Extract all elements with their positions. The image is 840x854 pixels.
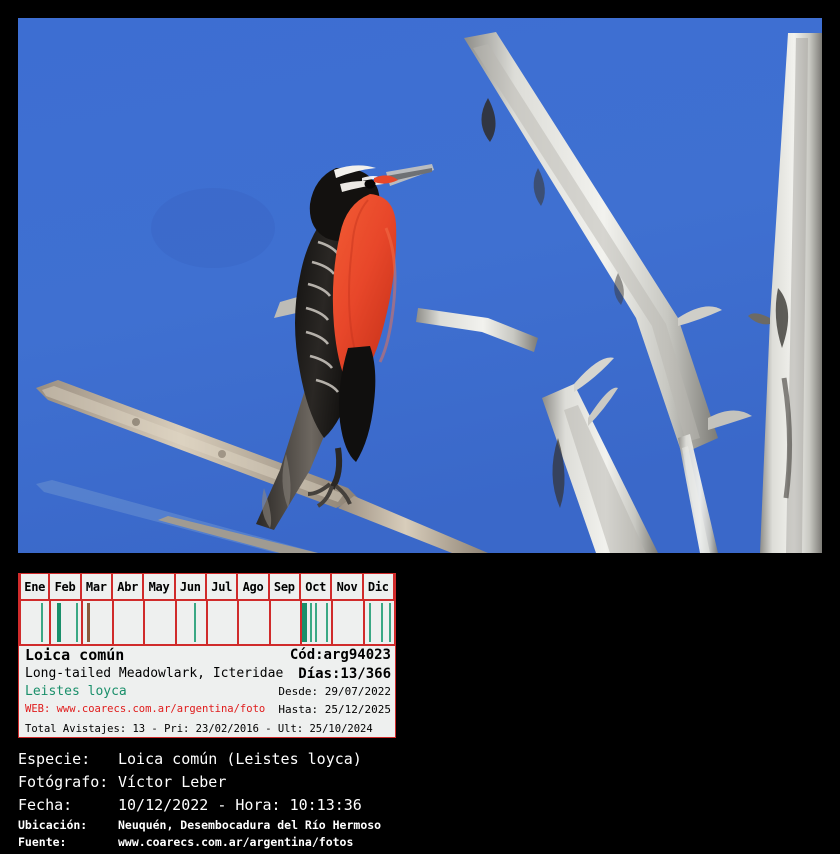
calendar-separator [363,601,365,644]
calendar-sighting-tick [76,603,78,642]
calendar-sighting-track [19,601,395,644]
calendar-sighting-tick [369,603,371,642]
calendar-separator [175,601,177,644]
fotografo-label: Fotógrafo: [18,771,118,794]
calendar-separator [237,601,239,644]
fecha-label: Fecha: [18,794,118,817]
meta-row-ubicacion: Ubicación: Neuquén, Desembocadura del Rí… [18,817,818,834]
ubicacion-value: Neuquén, Desembocadura del Río Hermoso [118,817,381,834]
calendar-sighting-tick [87,603,90,642]
calendar-separator [206,601,208,644]
record-info: Loica común Long-tailed Meadowlark, Icte… [19,646,395,737]
record-total-sightings: Total Avistajes: 13 - Pri: 23/02/2016 - … [25,723,373,735]
calendar-sighting-tick [389,603,391,642]
calendar-month-oct: Oct [301,574,332,601]
record-days: Días:13/366 [241,665,391,683]
calendar-month-may: May [144,574,175,601]
record-info-right: Cód:arg94023 Días:13/366 Desde: 29/07/20… [241,646,391,719]
calendar-separator [112,601,114,644]
bird-photo-image [18,18,822,553]
calendar-separator [49,601,51,644]
calendar-sighting-tick [41,603,43,642]
calendar-sighting-tick [194,603,196,642]
record-desde: Desde: 29/07/2022 [241,683,391,701]
calendar-month-header: EneFebMarAbrMayJunJulAgoSepOctNovDic [19,574,395,601]
calendar-sighting-tick [315,603,317,642]
calendar-sighting-tick [302,603,307,642]
calendar-sighting-tick [310,603,312,642]
record-code: Cód:arg94023 [241,646,391,665]
calendar-month-mar: Mar [82,574,113,601]
fecha-value: 10/12/2022 - Hora: 10:13:36 [118,794,362,817]
fotografo-value: Víctor Leber [118,771,226,794]
fuente-value[interactable]: www.coarecs.com.ar/argentina/fotos [118,834,353,851]
calendar-month-nov: Nov [332,574,363,601]
fuente-label: Fuente: [18,834,118,851]
sightings-calendar: EneFebMarAbrMayJunJulAgoSepOctNovDic [19,574,395,646]
calendar-month-ago: Ago [238,574,269,601]
especie-value: Loica común (Leistes loyca) [118,748,362,771]
calendar-separator [81,601,83,644]
record-hasta: Hasta: 25/12/2025 [241,701,391,719]
meta-row-fuente: Fuente: www.coarecs.com.ar/argentina/fot… [18,834,818,851]
ubicacion-label: Ubicación: [18,817,118,834]
calendar-sighting-tick [57,603,61,642]
calendar-separator [394,601,396,644]
calendar-month-jul: Jul [207,574,238,601]
calendar-separator [19,601,21,644]
especie-label: Especie: [18,748,118,771]
calendar-separator [269,601,271,644]
meta-row-especie: Especie: Loica común (Leistes loyca) [18,748,818,771]
species-record-card: EneFebMarAbrMayJunJulAgoSepOctNovDic Loi… [18,573,396,738]
calendar-month-ene: Ene [19,574,50,601]
calendar-sighting-tick [381,603,383,642]
photo-metadata: Especie: Loica común (Leistes loyca) Fot… [18,748,818,851]
calendar-month-dic: Dic [364,574,395,601]
bird-photo [18,18,822,553]
calendar-separator [143,601,145,644]
calendar-month-abr: Abr [113,574,144,601]
calendar-month-feb: Feb [50,574,81,601]
calendar-month-jun: Jun [176,574,207,601]
meta-row-fotografo: Fotógrafo: Víctor Leber [18,771,818,794]
calendar-month-sep: Sep [270,574,301,601]
calendar-separator [331,601,333,644]
meta-row-fecha: Fecha: 10/12/2022 - Hora: 10:13:36 [18,794,818,817]
calendar-sighting-tick [326,603,328,642]
